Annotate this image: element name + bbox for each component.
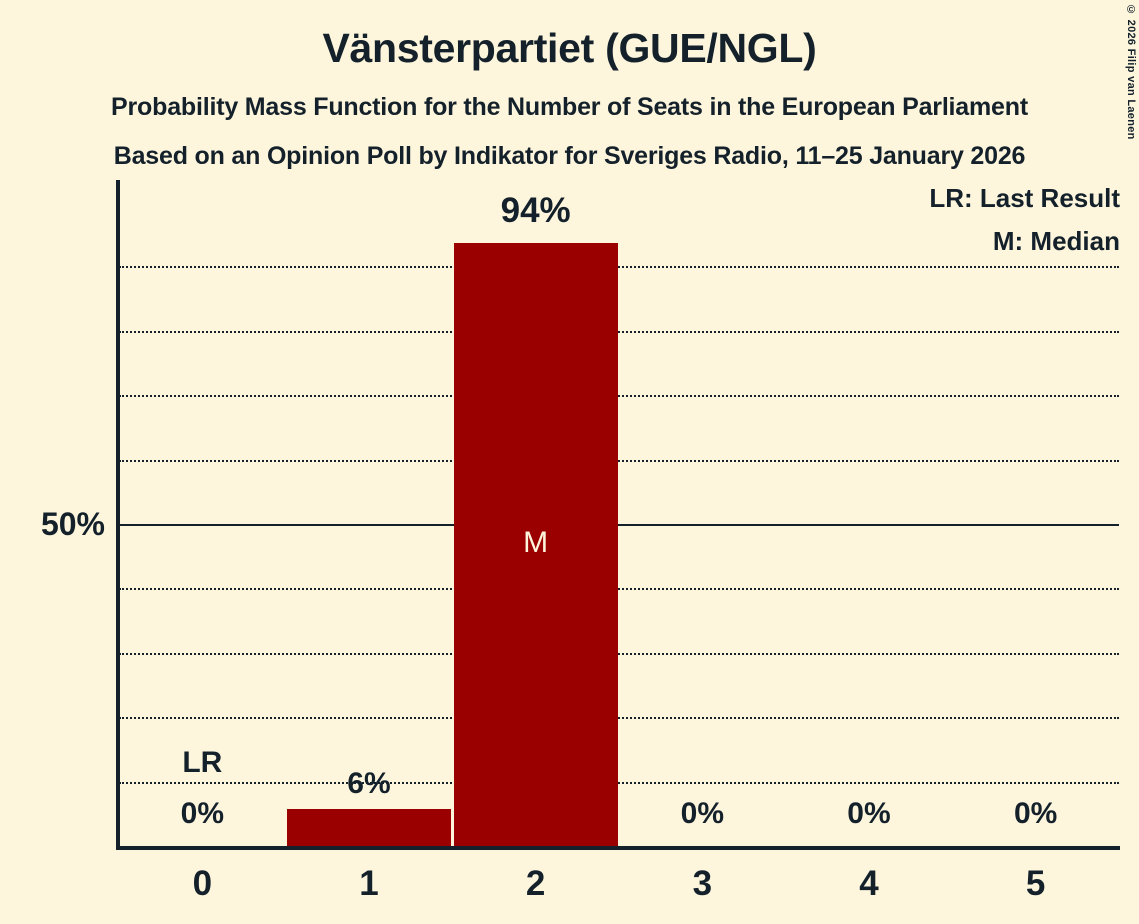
gridline xyxy=(119,588,1119,590)
chart-subtitle: Probability Mass Function for the Number… xyxy=(0,69,1139,120)
gridline-major xyxy=(119,524,1119,526)
last-result-marker: LR xyxy=(119,748,286,778)
x-axis-line xyxy=(116,846,1120,850)
gridline xyxy=(119,460,1119,462)
x-axis-tick-label: 0 xyxy=(119,866,286,901)
gridline xyxy=(119,395,1119,397)
title-block: Vänsterpartiet (GUE/NGL) Probability Mas… xyxy=(0,0,1139,169)
median-marker: M xyxy=(452,528,619,558)
x-axis-tick-label: 5 xyxy=(952,866,1119,901)
bar-value-label: 0% xyxy=(952,799,1119,829)
bar-value-label: 0% xyxy=(119,799,286,829)
bar-value-label: 0% xyxy=(786,799,953,829)
pmf-chart: Vänsterpartiet (GUE/NGL) Probability Mas… xyxy=(0,0,1139,924)
x-axis-tick-label: 1 xyxy=(286,866,453,901)
y-axis-tick-label: 50% xyxy=(0,508,105,540)
bar-value-label: 6% xyxy=(286,769,453,799)
page-title: Vänsterpartiet (GUE/NGL) xyxy=(0,0,1139,69)
x-axis-tick-label: 4 xyxy=(786,866,953,901)
bar xyxy=(287,809,451,848)
x-axis-tick-label: 2 xyxy=(452,866,619,901)
gridline xyxy=(119,653,1119,655)
plot-area: 0%6%94%0%0%0%LRM xyxy=(119,180,1119,848)
chart-subtitle-source: Based on an Opinion Poll by Indikator fo… xyxy=(0,120,1139,169)
y-axis-line xyxy=(116,180,120,848)
gridline xyxy=(119,331,1119,333)
gridline xyxy=(119,266,1119,268)
bar-value-label: 0% xyxy=(619,799,786,829)
x-axis-tick-label: 3 xyxy=(619,866,786,901)
gridline xyxy=(119,717,1119,719)
bar-value-label: 94% xyxy=(452,193,619,228)
x-axis-tick-labels: 012345 xyxy=(119,866,1119,911)
copyright-notice: © 2026 Filip van Laenen xyxy=(1125,4,1137,140)
gridline xyxy=(119,782,1119,784)
